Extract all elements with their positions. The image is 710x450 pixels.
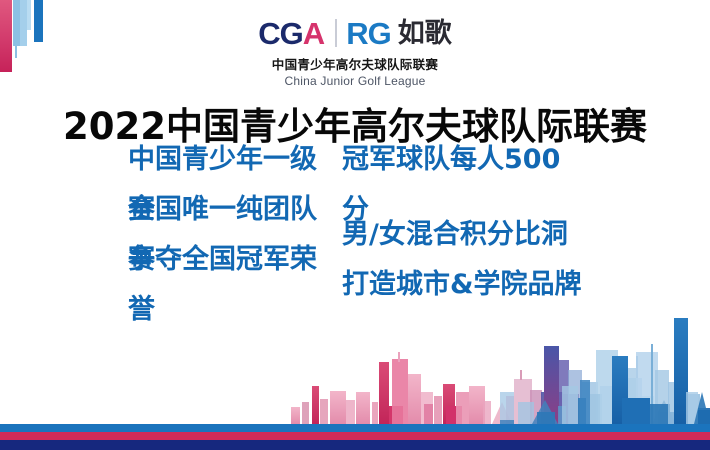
poster-canvas: CGA RG 如歌 中国青少年高尔夫球队际联赛 China Junior Gol… [0, 0, 710, 450]
logo-divider-icon [335, 19, 337, 47]
bottom-band-navy [0, 440, 710, 450]
organization-name-en: China Junior Golf League [285, 74, 426, 88]
cga-cg-letters: CG [258, 16, 303, 51]
rg-wordmark: RG [346, 18, 391, 49]
cityscape-illustration-right [0, 274, 710, 424]
bottom-band-blue [0, 424, 710, 432]
slogan-right-text: 男/女混合积分比洞 [342, 210, 582, 260]
organization-name-cn: 中国青少年高尔夫球队际联赛 [272, 54, 438, 73]
cga-wordmark: CGA [258, 18, 324, 49]
cga-a-letter: A [303, 16, 324, 51]
bottom-band-crimson [0, 432, 710, 440]
logo-wordmark-row: CGA RG 如歌 [258, 16, 451, 50]
logo-lockup: CGA RG 如歌 中国青少年高尔夫球队际联赛 China Junior Gol… [0, 16, 710, 88]
ruge-wordmark: 如歌 [398, 18, 452, 49]
